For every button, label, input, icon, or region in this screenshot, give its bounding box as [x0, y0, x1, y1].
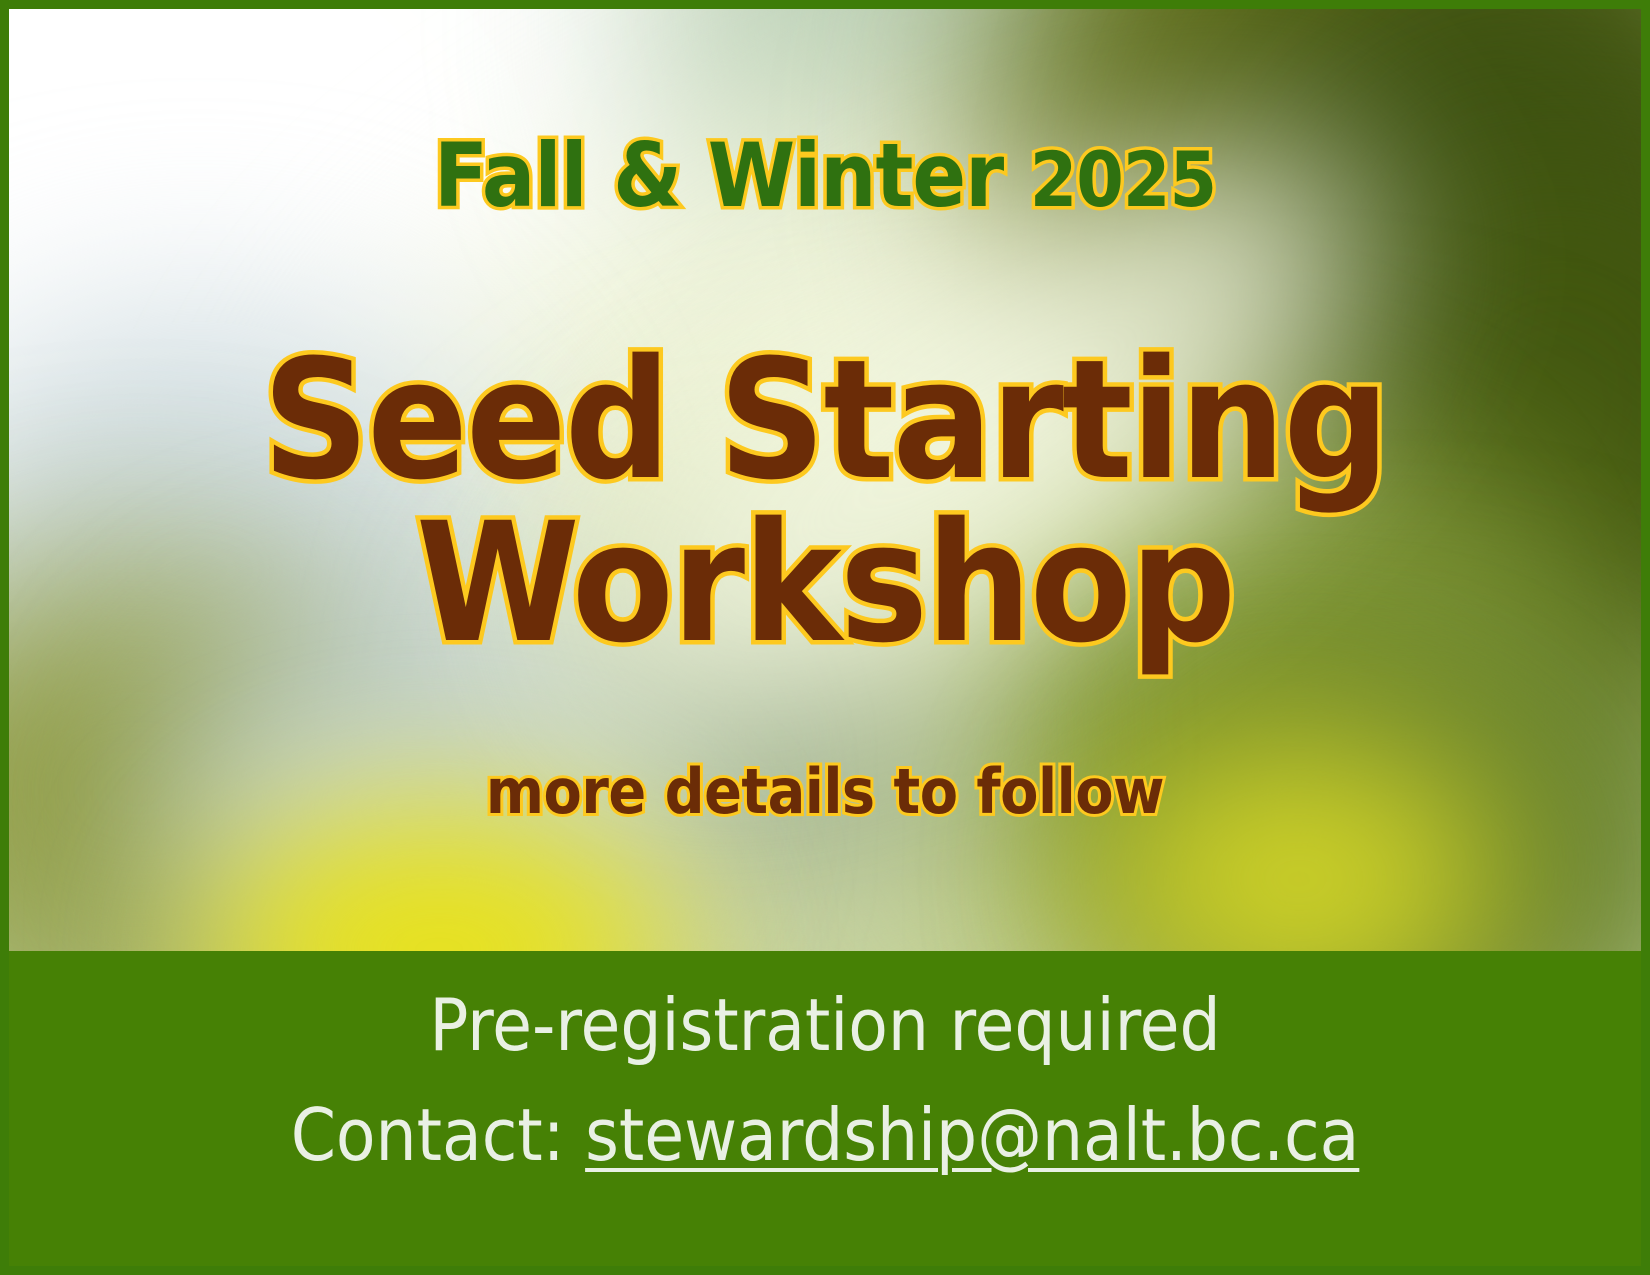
poster-text-overlay: Fall & Winter 2025 Seed Starting Worksho…: [9, 9, 1641, 951]
details-note: more details to follow: [9, 761, 1641, 823]
footer-band: Pre-registration required Contact: stewa…: [9, 951, 1641, 1266]
season-heading-year: 2025: [1030, 135, 1216, 224]
workshop-title: Seed Starting Workshop: [9, 339, 1641, 666]
season-heading: Fall & Winter 2025: [9, 132, 1641, 220]
workshop-title-line-1: Seed Starting: [9, 339, 1641, 502]
contact-label: Contact:: [291, 1093, 585, 1177]
pre-registration-notice: Pre-registration required: [9, 989, 1641, 1061]
workshop-title-line-2: Workshop: [9, 502, 1641, 665]
contact-line: Contact: stewardship@nalt.bc.ca: [9, 1099, 1641, 1171]
event-poster: Fall & Winter 2025 Seed Starting Worksho…: [0, 0, 1650, 1275]
contact-email-link[interactable]: stewardship@nalt.bc.ca: [585, 1093, 1359, 1177]
season-heading-prefix: Fall & Winter: [434, 124, 1030, 227]
